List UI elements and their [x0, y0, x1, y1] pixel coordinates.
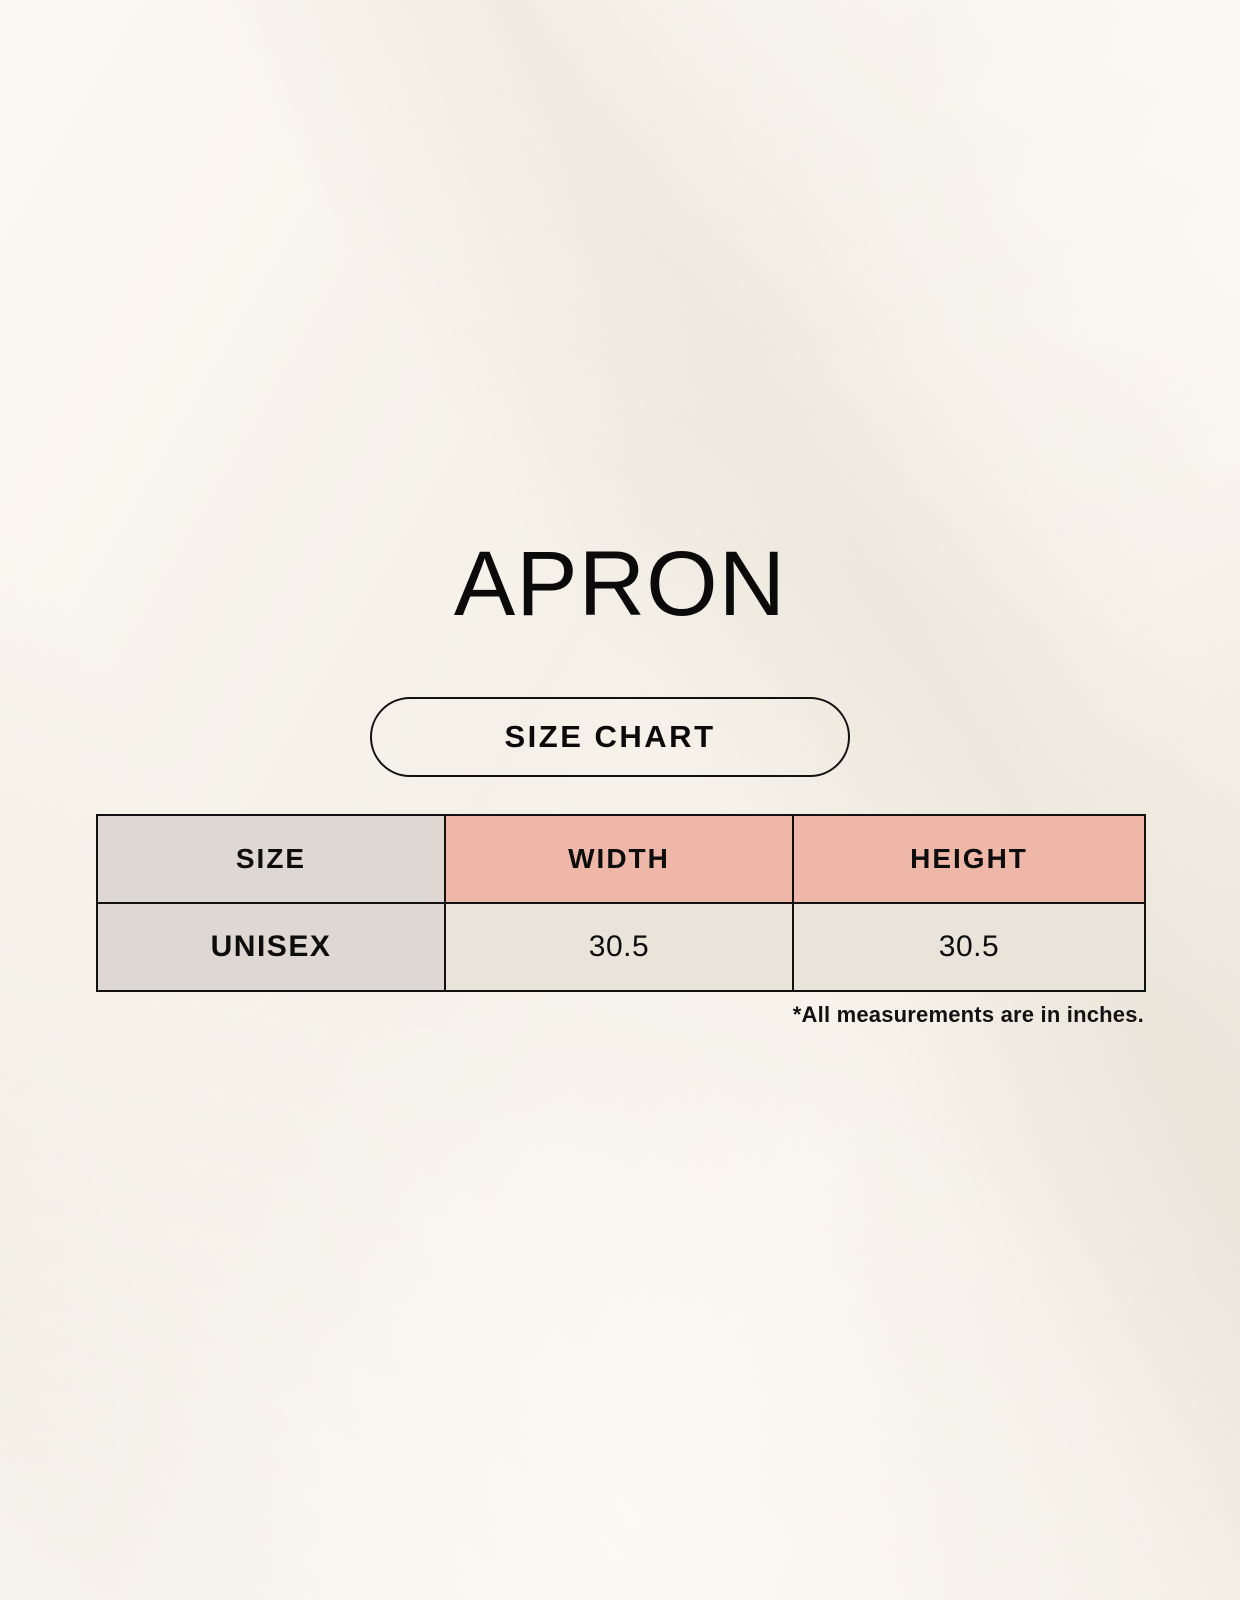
- size-chart-badge-label: SIZE CHART: [505, 719, 716, 755]
- column-header-height: HEIGHT: [793, 815, 1145, 903]
- row-label-unisex: UNISEX: [97, 903, 445, 991]
- size-table: SIZE WIDTH HEIGHT UNISEX 30.5 30.5: [96, 814, 1146, 992]
- size-chart-badge: SIZE CHART: [370, 697, 850, 777]
- column-header-size: SIZE: [97, 815, 445, 903]
- table-row: UNISEX 30.5 30.5: [97, 903, 1145, 991]
- table-header-row: SIZE WIDTH HEIGHT: [97, 815, 1145, 903]
- fabric-shadow-band-secondary: [0, 0, 1240, 1600]
- size-chart-canvas: APRON SIZE CHART SIZE WIDTH HEIGHT UNISE…: [0, 0, 1240, 1600]
- measurement-units-footnote: *All measurements are in inches.: [96, 1002, 1144, 1028]
- cell-unisex-width: 30.5: [445, 903, 793, 991]
- fabric-shadow-band-primary: [0, 0, 1240, 1600]
- cell-unisex-height: 30.5: [793, 903, 1145, 991]
- page-title: APRON: [0, 538, 1240, 630]
- column-header-width: WIDTH: [445, 815, 793, 903]
- fabric-highlight-overlay: [0, 0, 1240, 1600]
